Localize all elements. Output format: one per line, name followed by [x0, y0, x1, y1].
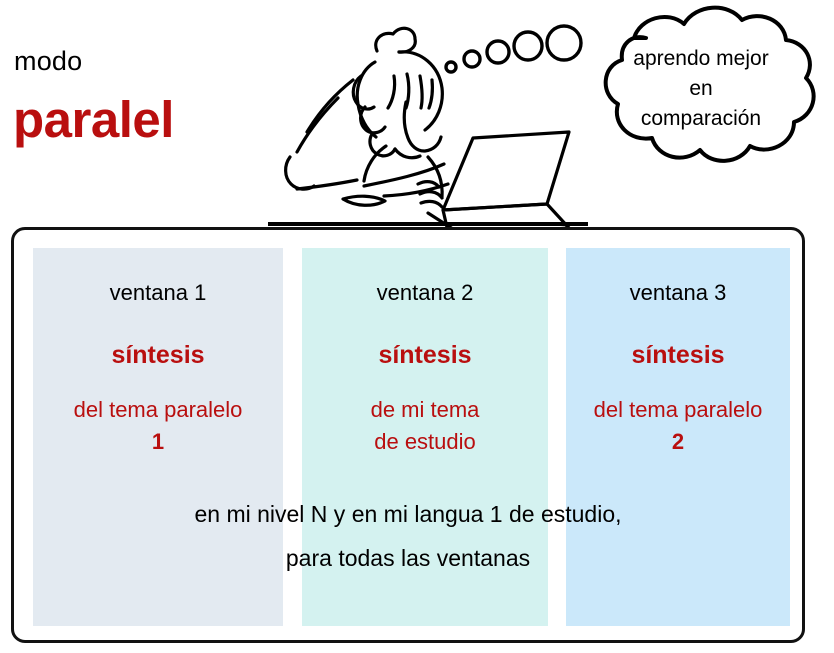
window-subtext-2-line-1: de mi tema — [302, 394, 548, 426]
window-column-2[interactable]: ventana 2 síntesis de mi tema de estudio — [302, 248, 548, 626]
window-subtext-1-line-1: del tema paralelo — [33, 394, 283, 426]
thought-bubble-line-2: en — [596, 74, 806, 104]
window-column-3[interactable]: ventana 3 síntesis del tema paralelo 2 — [566, 248, 790, 626]
window-subtext-3-line-1: del tema paralelo — [566, 394, 790, 426]
windows-columns: ventana 1 síntesis del tema paralelo 1 v… — [14, 230, 802, 640]
thought-bubble-text: aprendo mejor en comparación — [596, 44, 806, 134]
windows-panel: ventana 1 síntesis del tema paralelo 1 v… — [11, 227, 805, 643]
window-subtext-3-line-2: 2 — [566, 426, 790, 458]
window-subtext-1: del tema paralelo 1 — [33, 394, 283, 458]
window-subtext-2-line-2: de estudio — [302, 426, 548, 458]
mode-label: modo — [14, 46, 82, 76]
window-label-3: ventana 3 — [566, 280, 790, 306]
header-area: modo paralel — [0, 0, 834, 227]
page-title: paralel — [13, 92, 174, 147]
window-label-1: ventana 1 — [33, 280, 283, 306]
window-subtext-1-line-2: 1 — [33, 426, 283, 458]
window-column-1[interactable]: ventana 1 síntesis del tema paralelo 1 — [33, 248, 283, 626]
window-subtext-2: de mi tema de estudio — [302, 394, 548, 458]
window-subtext-3: del tema paralelo 2 — [566, 394, 790, 458]
window-heading-2: síntesis — [302, 341, 548, 369]
window-heading-3: síntesis — [566, 341, 790, 369]
thought-bubble-line-1: aprendo mejor — [596, 44, 806, 74]
thought-bubble-line-3: comparación — [596, 104, 806, 134]
window-heading-1: síntesis — [33, 341, 283, 369]
window-label-2: ventana 2 — [302, 280, 548, 306]
